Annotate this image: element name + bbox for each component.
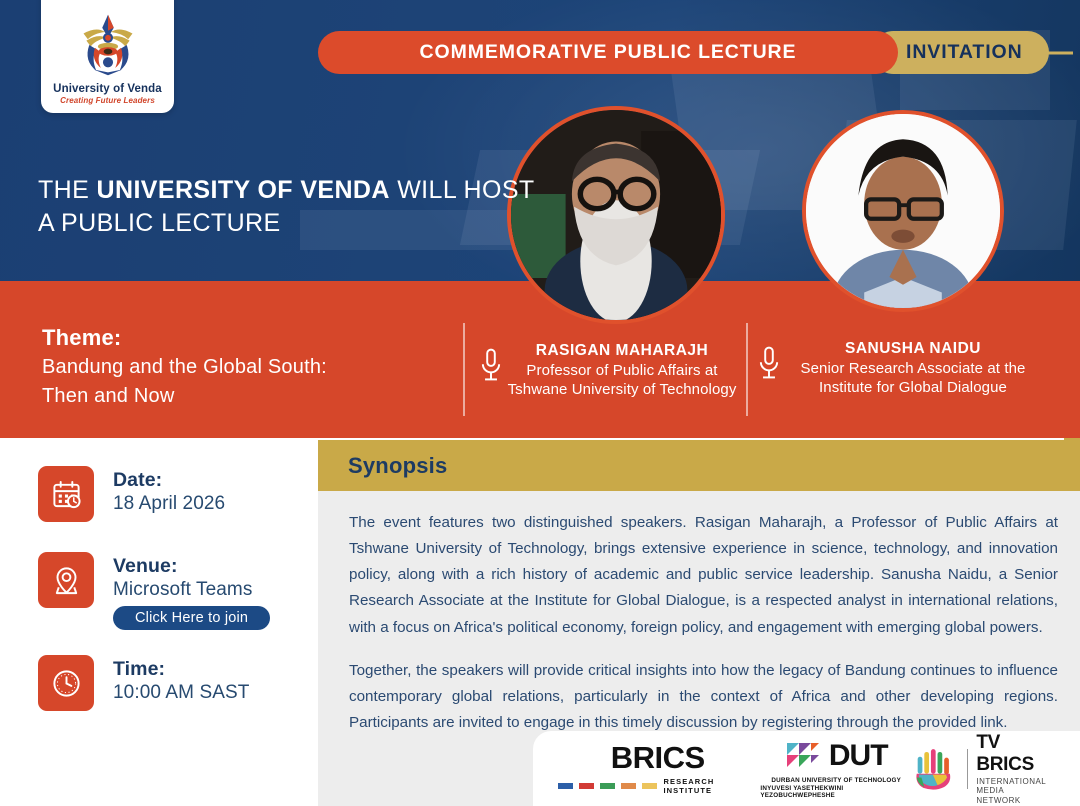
theme-block: Theme: Bandung and the Global South: The… [42,325,327,411]
brics-swatch-orange [621,783,636,789]
header-banner: COMMEMORATIVE PUBLIC LECTURE INVITATION [318,31,1049,74]
tv-brics-line-3: NETWORK [976,796,1058,805]
detail-row-time: Time: 10:00 AM SAST [38,655,249,711]
brics-swatch-blue [558,783,573,789]
dut-top-row: DUT [785,739,888,773]
tv-brics-divider [967,749,968,789]
speaker-credit-1: RASIGAN MAHARAJH Professor of Public Aff… [478,342,740,399]
dut-logo: DUT DURBAN UNIVERSITY OF TECHNOLOGY INYU… [760,739,912,799]
tv-brics-line-2: MEDIA [976,786,1058,795]
brics-swatch-green [600,783,615,789]
microphone-icon [756,346,782,383]
calendar-clock-icon [38,466,94,522]
speaker-photo-rasigan-maharajh [507,106,725,324]
speaker-portrait-2 [806,114,1000,308]
tv-brics-line-1: INTERNATIONAL [976,777,1058,786]
tv-brics-wordmark: TV BRICS [976,732,1058,777]
headline-prefix: THE [38,176,97,204]
theme-line-2: Then and Now [42,382,327,411]
university-logo-card: University of Venda Creating Future Lead… [41,0,174,113]
headline-suffix: WILL HOST [390,176,535,204]
tv-brics-logo: TV BRICS INTERNATIONAL MEDIA NETWORK [912,732,1058,805]
calendar-clock-glyph [51,479,82,510]
synopsis-paragraph-2: Together, the speakers will provide crit… [349,658,1058,736]
invitation-badge: INVITATION [872,31,1049,74]
detail-value: 10:00 AM SAST [113,682,249,704]
banner-tail-decoration [1043,51,1073,54]
brics-research-institute-logo: BRICS RESEARCH INSTITUTE [555,742,760,795]
tv-brics-text: TV BRICS INTERNATIONAL MEDIA NETWORK [976,732,1058,805]
synopsis-title: Synopsis [348,453,447,479]
detail-label: Venue: [113,555,270,578]
dut-wordmark: DUT [829,741,888,771]
speaker-role: Senior Research Associate at the Institu… [782,359,1044,397]
detail-row-date: Date: 18 April 2026 [38,466,225,522]
page-title: THE UNIVERSITY OF VENDA WILL HOST A PUBL… [38,174,535,240]
clock-glyph [51,668,82,699]
brics-subtitle-row: RESEARCH INSTITUTE [555,777,760,795]
speaker-divider-left [463,323,465,416]
detail-value: 18 April 2026 [113,493,225,515]
dut-subtitle-zulu: INYUVESI YASETHEKWINI YEZOBUCHWEPHESHE [760,785,912,799]
headline-emphasis: UNIVERSITY OF VENDA [97,176,390,204]
join-meeting-button[interactable]: Click Here to join [113,606,270,630]
speaker-name: SANUSHA NAIDU [782,340,1044,358]
dut-triangles-icon [785,739,825,773]
detail-row-venue: Venue: Microsoft Teams Click Here to joi… [38,552,270,630]
logo-university-name: University of Venda [53,83,162,95]
brics-wordmark: BRICS [611,742,705,773]
theme-label: Theme: [42,325,327,351]
tv-brics-hand-icon [912,744,959,794]
logo-tagline: Creating Future Leaders [60,96,155,105]
brics-swatch-yellow [642,783,657,789]
partner-logos-footer: BRICS RESEARCH INSTITUTE DUT DURBAN UNIV… [533,731,1080,806]
speaker-name: RASIGAN MAHARAJH [504,342,740,360]
theme-line-1: Bandung and the Global South: [42,353,327,382]
speaker-photo-sanusha-naidu [802,110,1004,312]
location-pin-icon [38,552,94,608]
banner-main-label: COMMEMORATIVE PUBLIC LECTURE [318,31,898,74]
university-crest-icon [71,9,145,81]
headline-line-2: A PUBLIC LECTURE [38,207,535,240]
detail-label: Time: [113,658,249,681]
synopsis-header: Synopsis [318,440,1064,491]
speaker-role: Professor of Public Affairs at Tshwane U… [504,361,740,399]
dut-subtitle-english: DURBAN UNIVERSITY OF TECHNOLOGY [771,777,901,784]
detail-value: Microsoft Teams [113,579,270,601]
brics-subtitle: RESEARCH INSTITUTE [663,777,760,795]
synopsis-paragraph-1: The event features two distinguished spe… [349,510,1058,641]
brics-swatch-red [579,783,594,789]
invitation-badge-label: INVITATION [906,41,1023,64]
detail-label: Date: [113,469,225,492]
speaker-portrait-1 [511,110,721,320]
speaker-credit-2: SANUSHA NAIDU Senior Research Associate … [756,340,1044,397]
location-pin-glyph [51,565,82,596]
gold-accent-rail [1064,438,1080,491]
microphone-icon [478,348,504,385]
speaker-divider-right [746,323,748,416]
clock-icon [38,655,94,711]
